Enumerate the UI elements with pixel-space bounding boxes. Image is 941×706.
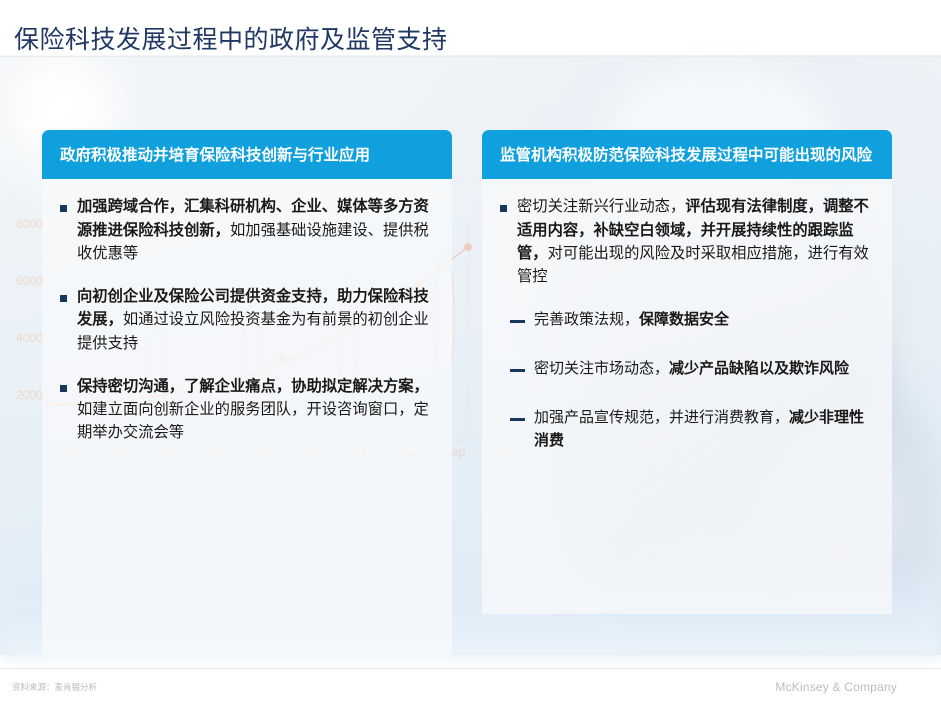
column-regulator: 监管机构积极防范保险科技发展过程中可能出现的风险 密切关注新兴行业动态，评估现有… — [482, 130, 892, 614]
column-body-regulator: 密切关注新兴行业动态，评估现有法律制度，调整不适用内容，补缺空白领域，并开展持续… — [482, 179, 892, 614]
list-item: 向初创企业及保险公司提供资金支持，助力保险科技发展，如通过设立风险投资基金为有前… — [56, 285, 432, 355]
column-header-regulator: 监管机构积极防范保险科技发展过程中可能出现的风险 — [482, 130, 892, 179]
bullet-text: 完善政策法规，保障数据安全 — [534, 308, 872, 331]
bullet-text: 保持密切沟通，了解企业痛点，协助拟定解决方案，如建立面向创新企业的服务团队，开设… — [77, 375, 432, 445]
bullet-regular-text: 如通过设立风险投资基金为有前景的初创企业提供支持 — [77, 310, 429, 351]
bullet-text: 加强产品宣传规范，并进行消费教育，减少非理性消费 — [534, 406, 872, 452]
column-government: 政府积极推动并培育保险科技创新与行业应用 加强跨域合作，汇集科研机构、企业、媒体… — [42, 130, 452, 659]
column-header-government: 政府积极推动并培育保险科技创新与行业应用 — [42, 130, 452, 179]
bullet-lead-text: 完善政策法规， — [534, 310, 639, 328]
footer-divider — [0, 668, 941, 669]
bullet-text: 密切关注市场动态，减少产品缺陷以及欺诈风险 — [534, 357, 872, 380]
bullet-regular-text: 对可能出现的风险及时采取相应措施，进行有效管控 — [517, 244, 869, 285]
bullet-text: 密切关注新兴行业动态，评估现有法律制度，调整不适用内容，补缺空白领域，并开展持续… — [517, 195, 872, 288]
bullet-bold-text: 保持密切沟通，了解企业痛点，协助拟定解决方案， — [77, 377, 429, 395]
slide-canvas: 8000 6000 4000 2000 Jan Feb Mar Apr May … — [0, 0, 941, 706]
title-divider — [0, 56, 941, 57]
list-item: 保持密切沟通，了解企业痛点，协助拟定解决方案，如建立面向创新企业的服务团队，开设… — [56, 375, 432, 445]
list-item: 加强产品宣传规范，并进行消费教育，减少非理性消费 — [496, 406, 872, 452]
bullet-text: 加强跨域合作，汇集科研机构、企业、媒体等多方资源推进保险科技创新，如加强基础设施… — [77, 195, 432, 265]
bullet-regular-text: 如建立面向创新企业的服务团队，开设咨询窗口，定期举办交流会等 — [77, 400, 429, 441]
bullet-lead-text: 密切关注新兴行业动态， — [517, 197, 685, 215]
bullet-bold-text: 保障数据安全 — [639, 310, 729, 328]
svg-text:6000: 6000 — [16, 274, 43, 288]
list-item: 密切关注新兴行业动态，评估现有法律制度，调整不适用内容，补缺空白领域，并开展持续… — [496, 195, 872, 288]
square-bullet-icon — [60, 385, 67, 392]
square-bullet-icon — [500, 205, 507, 212]
dash-bullet-icon — [510, 320, 525, 323]
square-bullet-icon — [60, 295, 67, 302]
svg-text:8000: 8000 — [16, 217, 43, 231]
source-note: 资料来源：麦肯锡分析 — [12, 681, 97, 693]
column-body-government: 加强跨域合作，汇集科研机构、企业、媒体等多方资源推进保险科技创新，如加强基础设施… — [42, 179, 452, 659]
dash-bullet-icon — [510, 369, 525, 372]
square-bullet-icon — [60, 205, 67, 212]
list-item: 完善政策法规，保障数据安全 — [496, 308, 872, 331]
dash-bullet-icon — [510, 418, 525, 421]
list-item: 密切关注市场动态，减少产品缺陷以及欺诈风险 — [496, 357, 872, 380]
bullet-lead-text: 密切关注市场动态， — [534, 359, 669, 377]
list-item: 加强跨域合作，汇集科研机构、企业、媒体等多方资源推进保险科技创新，如加强基础设施… — [56, 195, 432, 265]
brand-label: McKinsey & Company — [775, 680, 897, 694]
page-title: 保险科技发展过程中的政府及监管支持 — [14, 20, 448, 56]
svg-text:2000: 2000 — [16, 388, 43, 402]
bullet-bold-text: 减少产品缺陷以及欺诈风险 — [669, 359, 849, 377]
bullet-text: 向初创企业及保险公司提供资金支持，助力保险科技发展，如通过设立风险投资基金为有前… — [77, 285, 432, 355]
svg-text:4000: 4000 — [16, 331, 43, 345]
bullet-lead-text: 加强产品宣传规范，并进行消费教育， — [534, 408, 789, 426]
